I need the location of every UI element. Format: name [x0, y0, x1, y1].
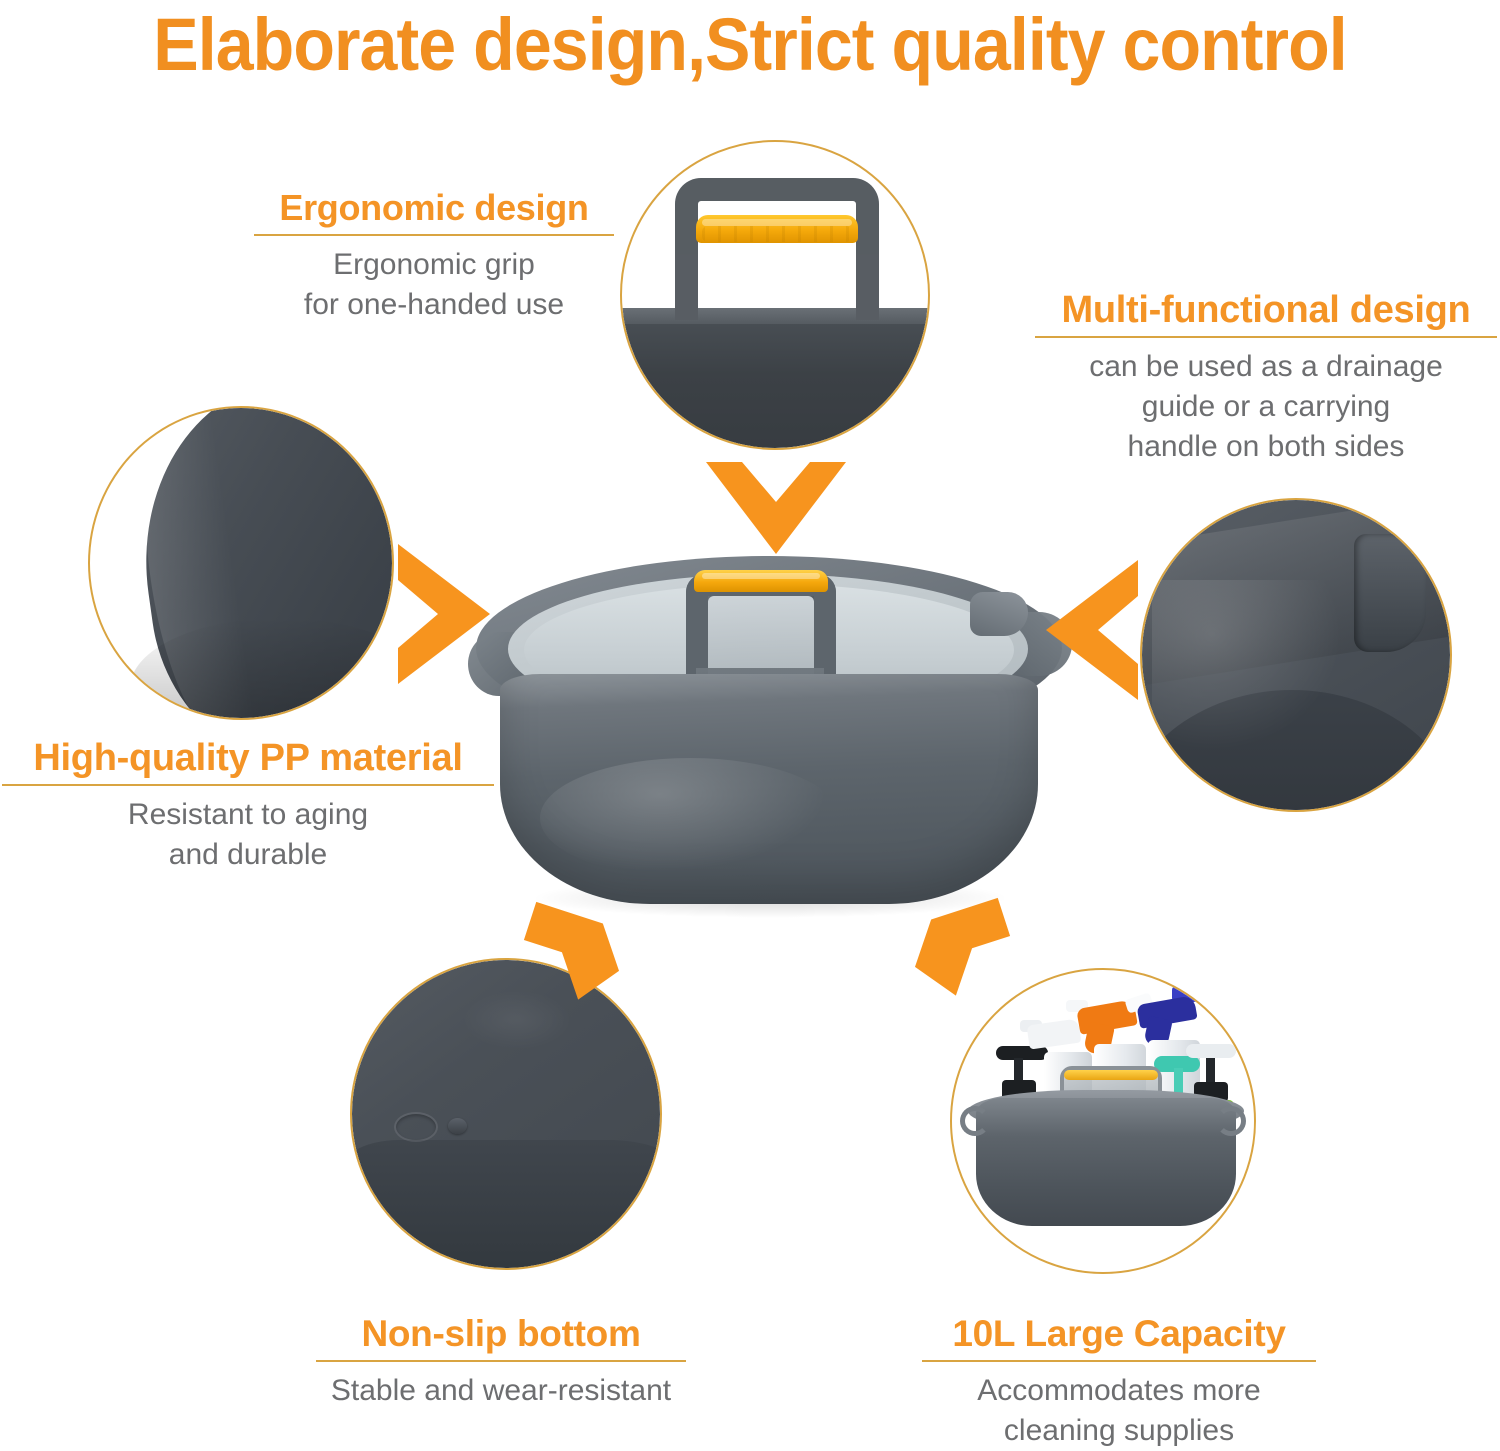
capacity-closeup-inner — [952, 970, 1254, 1272]
material-closeup-inner — [90, 408, 392, 718]
handle-closeup-arch-highlight — [675, 178, 879, 320]
handle-closeup-inner — [622, 142, 928, 448]
callout-underline — [254, 234, 614, 236]
capacity-closeup-photo — [950, 968, 1256, 1274]
product-yellow-grip — [694, 570, 828, 592]
pump-stem — [1206, 1058, 1215, 1084]
chevron-down-icon — [706, 462, 846, 554]
callout-10l-large-capacity: 10L Large Capacity Accommodates moreclea… — [922, 1312, 1316, 1451]
capacity-caddy-right-ear — [1216, 1106, 1246, 1136]
callout-underline — [2, 784, 494, 786]
callout-body: can be used as a drainageguide or a carr… — [1035, 347, 1497, 467]
main-product-image — [470, 548, 1070, 938]
callout-heading: High-quality PP material — [2, 736, 494, 780]
callout-body: Resistant to agingand durable — [2, 795, 494, 875]
callout-underline — [1035, 336, 1497, 338]
capacity-caddy-left-ear — [960, 1106, 990, 1136]
multifunction-notch — [1354, 534, 1426, 652]
capacity-caddy-yellow-grip — [1064, 1070, 1158, 1080]
callout-underline — [922, 1360, 1316, 1362]
handle-closeup-base — [622, 314, 928, 448]
callout-underline — [316, 1360, 686, 1362]
nonslip-side-wall — [352, 1140, 660, 1268]
material-closeup-photo — [88, 406, 394, 720]
multifunction-highlight — [1152, 580, 1352, 760]
callout-heading: Non-slip bottom — [316, 1312, 686, 1356]
pump-head — [1186, 1044, 1236, 1058]
chevron-up-right-icon — [908, 894, 1038, 1006]
callout-non-slip-bottom: Non-slip bottom Stable and wear-resistan… — [316, 1312, 686, 1411]
chevron-right-icon — [398, 544, 490, 684]
callout-multi-functional-design: Multi-functional design can be used as a… — [1035, 288, 1497, 467]
handle-closeup-grip-grooves — [702, 226, 852, 242]
capacity-caddy-tub — [976, 1098, 1236, 1226]
multifunction-closeup-inner — [1142, 500, 1450, 810]
callout-heading: 10L Large Capacity — [922, 1312, 1316, 1356]
nonslip-oval-mark — [394, 1112, 438, 1142]
page-title: Elaborate design,Strict quality control — [60, 2, 1440, 88]
multifunction-closeup-photo — [1140, 498, 1452, 812]
callout-body: Ergonomic gripfor one-handed use — [254, 245, 614, 325]
handle-closeup-photo — [620, 140, 930, 450]
callout-heading: Multi-functional design — [1035, 288, 1497, 332]
product-drainage-notch — [970, 592, 1028, 636]
chevron-left-icon — [1046, 560, 1138, 700]
callout-high-quality-pp-material: High-quality PP material Resistant to ag… — [2, 736, 494, 875]
nonslip-nub — [448, 1118, 467, 1134]
callout-heading: Ergonomic design — [254, 186, 614, 230]
chevron-up-left-icon — [496, 898, 626, 1010]
callout-ergonomic-design: Ergonomic design Ergonomic gripfor one-h… — [254, 186, 614, 325]
callout-body: Stable and wear-resistant — [316, 1371, 686, 1411]
callout-body: Accommodates morecleaning supplies — [922, 1371, 1316, 1451]
product-tub-highlight — [540, 758, 840, 878]
